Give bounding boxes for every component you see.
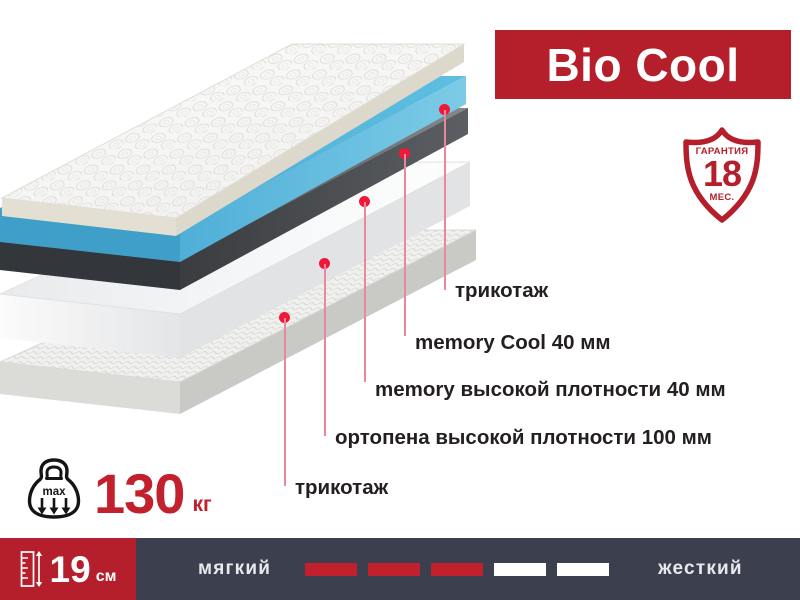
- firmness-hard-label: жесткий: [658, 558, 743, 580]
- firmness-soft-label: мягкий: [198, 558, 271, 580]
- ruler-icon: [20, 550, 44, 588]
- max-weight-value: 130: [94, 468, 184, 520]
- bottom-info-bar: 19 см мягкий жесткий: [0, 538, 800, 600]
- max-weight-block: max 130 кг: [26, 458, 212, 520]
- brand-name: Bio Cool: [546, 42, 739, 88]
- leader-line-layer-4: [324, 264, 326, 436]
- layer-label-1: трикотаж: [455, 281, 548, 302]
- layer-label-2: memory Cool 40 мм: [415, 333, 611, 354]
- firmness-segment-2[interactable]: [368, 563, 420, 576]
- product-infographic: Bio Cool ГАРАНТИЯ 18 МЕС. трикотаж memor…: [0, 0, 800, 600]
- height-block: 19 см: [0, 538, 136, 600]
- warranty-badge: ГАРАНТИЯ 18 МЕС.: [676, 127, 768, 223]
- layer-label-5: трикотаж: [295, 478, 388, 499]
- layer-label-3: memory высокой плотности 40 мм: [375, 380, 726, 401]
- warranty-value: 18: [676, 156, 768, 192]
- warranty-unit-label: МЕС.: [676, 193, 768, 203]
- leader-line-layer-5: [284, 318, 286, 486]
- max-weight-unit: кг: [192, 494, 211, 515]
- layer-label-4: ортопена высокой плотности 100 мм: [335, 428, 712, 449]
- firmness-segment-3[interactable]: [431, 563, 483, 576]
- firmness-segment-1[interactable]: [305, 563, 357, 576]
- leader-line-layer-3: [364, 202, 366, 382]
- leader-line-layer-1: [444, 110, 446, 290]
- firmness-scale[interactable]: [305, 563, 620, 576]
- kettlebell-icon: max: [26, 458, 82, 520]
- firmness-segment-5[interactable]: [557, 563, 609, 576]
- height-unit: см: [96, 569, 117, 597]
- kettlebell-max-text: max: [42, 486, 66, 498]
- brand-badge: Bio Cool: [495, 30, 791, 99]
- firmness-segment-4[interactable]: [494, 563, 546, 576]
- height-value: 19: [50, 551, 91, 588]
- leader-line-layer-2: [404, 154, 406, 336]
